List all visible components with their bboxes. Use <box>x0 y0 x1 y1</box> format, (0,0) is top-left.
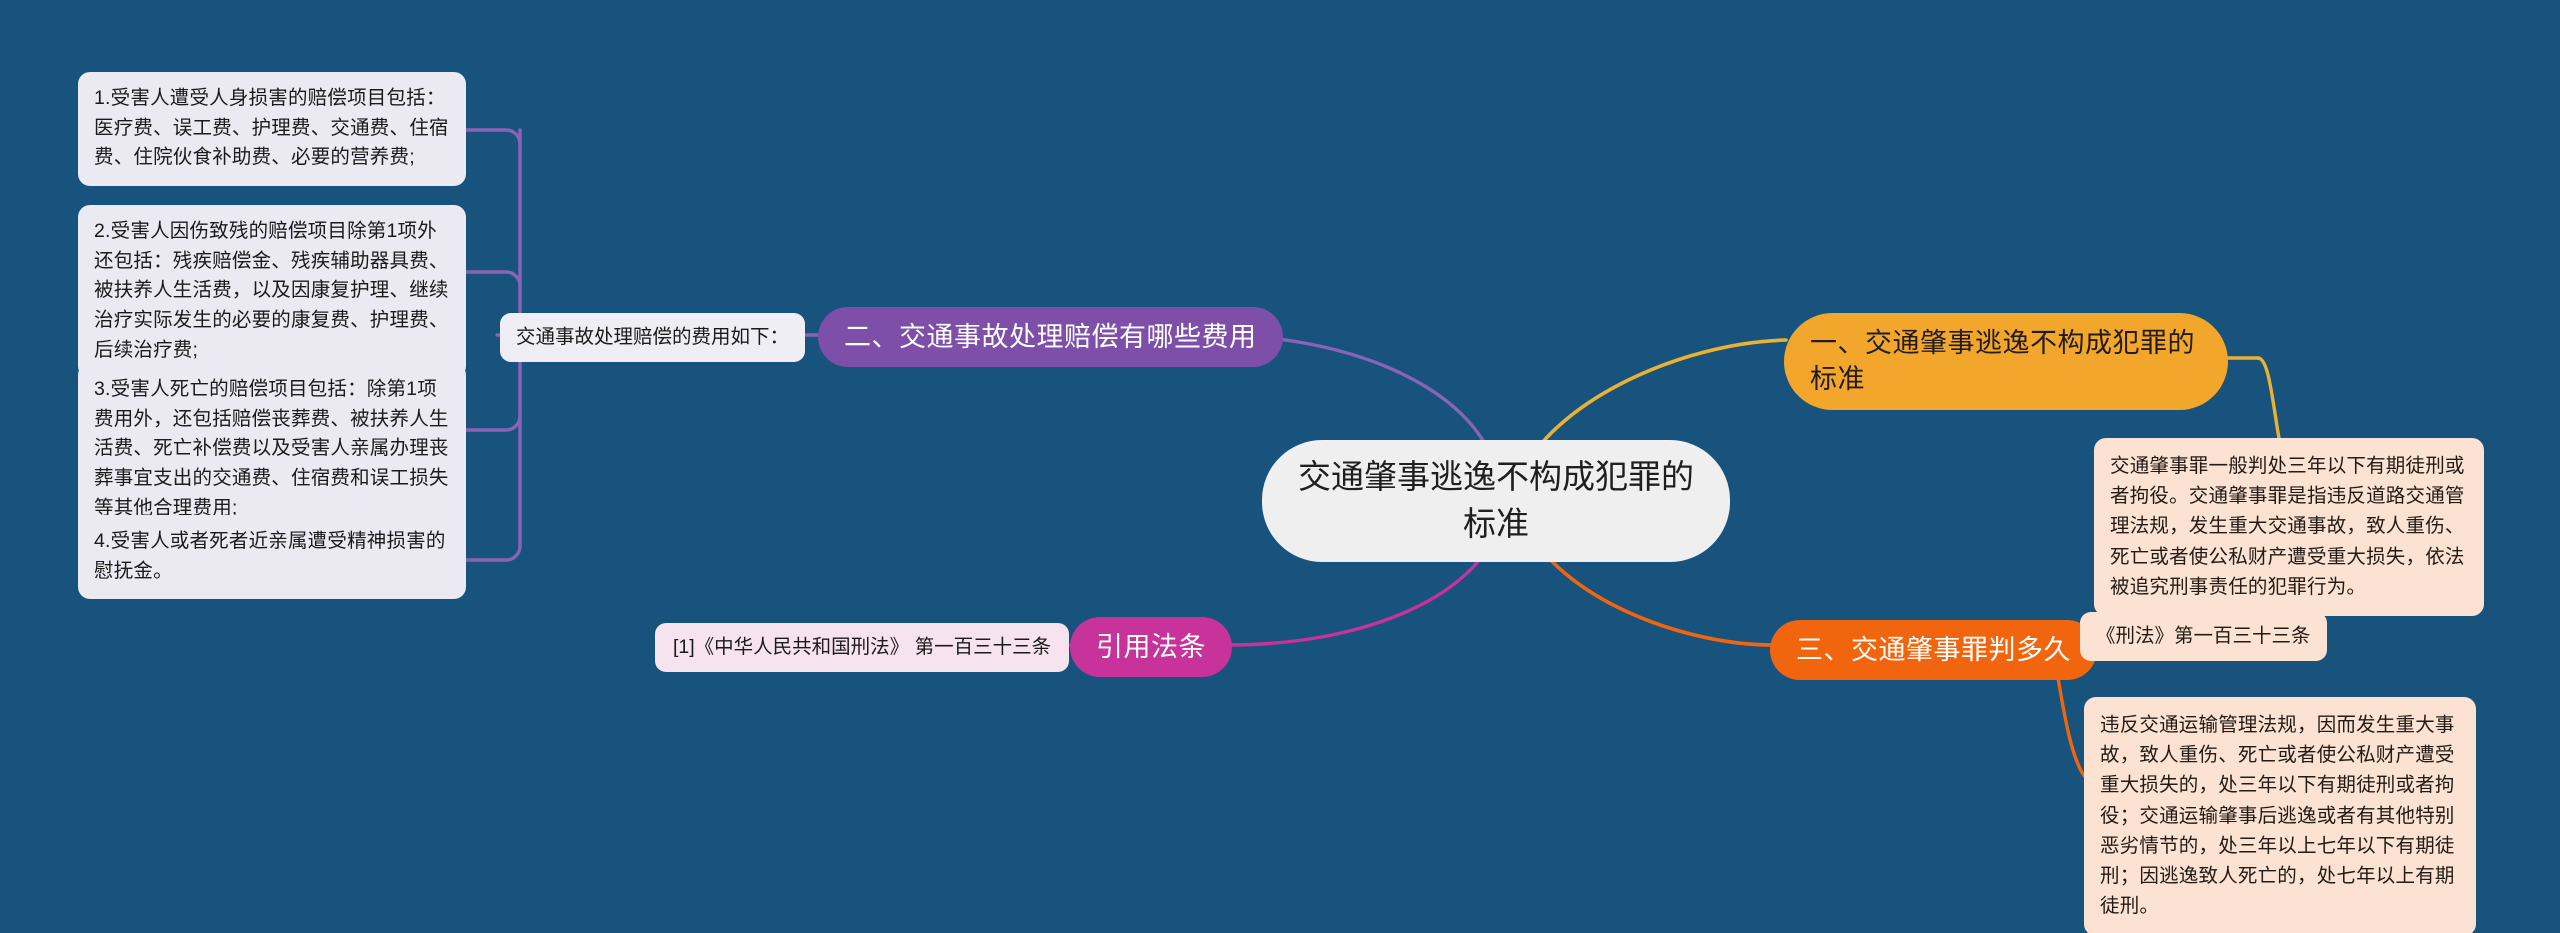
wire-detail-2 <box>466 272 520 286</box>
detail-card-fee-1[interactable]: 1.受害人遭受人身损害的赔偿项目包括：医疗费、误工费、护理费、交通费、住宿费、住… <box>78 72 466 186</box>
citation-card-criminal-law[interactable]: [1]《中华人民共和国刑法》 第一百三十三条 <box>655 623 1069 672</box>
wire-detail-3 <box>466 416 520 430</box>
branch-chip-citation[interactable]: 引用法条 <box>1070 617 1232 677</box>
intro-card-fees[interactable]: 交通事故处理赔偿的费用如下： <box>500 313 805 362</box>
wire-detail-1 <box>466 130 520 144</box>
branch-chip-standard[interactable]: 一、交通肇事逃逸不构成犯罪的标准 <box>1784 313 2228 410</box>
detail-card-sentence-2[interactable]: 违反交通运输管理法规，因而发生重大事故，致人重伤、死亡或者使公私财产遭受重大损失… <box>2084 697 2476 933</box>
detail-card-fee-4[interactable]: 4.受害人或者死者近亲属遭受精神损害的慰抚金。 <box>78 515 466 599</box>
mindmap-canvas: 1.受害人遭受人身损害的赔偿项目包括：医疗费、误工费、护理费、交通费、住宿费、住… <box>0 0 2560 933</box>
detail-card-fee-3[interactable]: 3.受害人死亡的赔偿项目包括：除第1项费用外，还包括赔偿丧葬费、被扶养人生活费、… <box>78 363 466 536</box>
root-node[interactable]: 交通肇事逃逸不构成犯罪的标准 <box>1262 440 1730 562</box>
branch-chip-sentence[interactable]: 三、交通肇事罪判多久 <box>1770 620 2097 680</box>
branch-chip-fees[interactable]: 二、交通事故处理赔偿有哪些费用 <box>818 307 1283 367</box>
detail-card-standard-1[interactable]: 交通肇事罪一般判处三年以下有期徒刑或者拘役。交通肇事罪是指违反道路交通管理法规，… <box>2094 438 2484 616</box>
detail-card-fee-2[interactable]: 2.受害人因伤致残的赔偿项目除第1项外还包括：残疾赔偿金、残疾辅助器具费、被扶养… <box>78 205 466 378</box>
wire-detail-4 <box>466 546 520 560</box>
detail-card-sentence-1[interactable]: 《刑法》第一百三十三条 <box>2080 612 2327 661</box>
